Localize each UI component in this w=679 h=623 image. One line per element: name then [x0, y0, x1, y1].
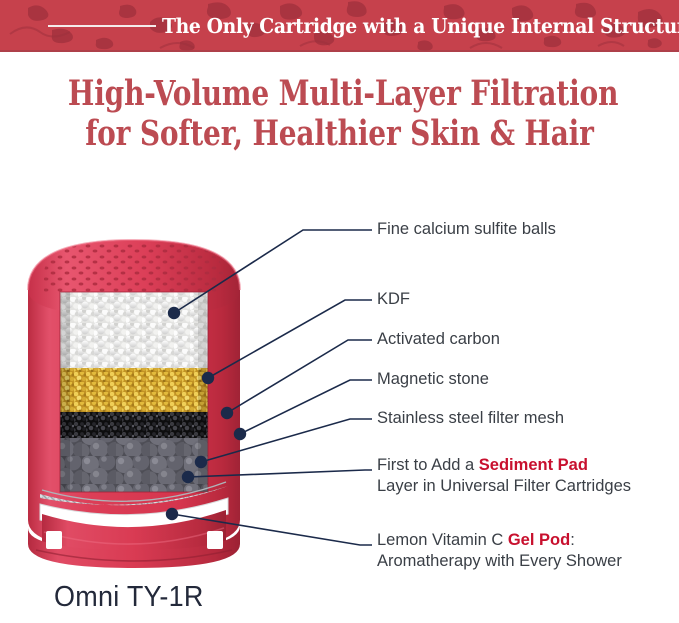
callout-activated-carbon: Activated carbon: [377, 329, 500, 350]
kdf-layer: [60, 368, 208, 412]
magnetic-stone-layer: [60, 438, 208, 492]
callout-kdf: KDF: [377, 289, 410, 310]
page-title-line-2: for Softer, Healthier Skin & Hair: [68, 114, 611, 154]
callout-calcium-sulfite-text: Fine calcium sulfite balls: [377, 220, 556, 238]
cap-perforations: [44, 244, 224, 296]
callout-gel-pod-line-2: Aromatherapy with Every Shower: [377, 551, 622, 572]
callout-activated-carbon-text: Activated carbon: [377, 330, 500, 348]
media-window: [60, 290, 208, 492]
callout-sediment-pad-line-2: Layer in Universal Filter Cartridges: [377, 476, 631, 497]
callout-gel-pod-prefix: Lemon Vitamin C: [377, 531, 508, 549]
callout-sediment-pad-prefix: First to Add a: [377, 456, 479, 474]
flange-notch-right: [207, 531, 223, 549]
flange-notch-left: [46, 531, 62, 549]
callout-gel-pod-tail: :: [570, 531, 575, 549]
callout-magnetic-stone: Magnetic stone: [377, 369, 489, 390]
banner-text: The Only Cartridge with a Unique Interna…: [162, 9, 633, 43]
callout-sediment-pad-highlight: Sediment Pad: [479, 456, 588, 474]
page-title-line-1: High-Volume Multi-Layer Filtration: [68, 74, 611, 114]
callout-magnetic-stone-text: Magnetic stone: [377, 370, 489, 388]
banner-bottom-edge: [0, 50, 679, 52]
activated-carbon-layer: [60, 412, 208, 438]
banner-rule: [48, 25, 156, 27]
product-name: Omni TY-1R: [54, 580, 204, 614]
callout-gel-pod-highlight: Gel Pod: [508, 531, 570, 549]
calcium-sulfite-layer: [60, 290, 208, 368]
callout-calcium-sulfite: Fine calcium sulfite balls: [377, 219, 556, 240]
callout-stainless-mesh: Stainless steel filter mesh: [377, 408, 564, 429]
callout-stainless-mesh-text: Stainless steel filter mesh: [377, 409, 564, 427]
page-title: High-Volume Multi-Layer Filtration for S…: [0, 74, 679, 154]
callout-sediment-pad: First to Add a Sediment Pad Layer in Uni…: [377, 455, 631, 497]
top-banner: The Only Cartridge with a Unique Interna…: [0, 0, 679, 52]
callout-kdf-text: KDF: [377, 290, 410, 308]
cartridge-illustration: [14, 232, 314, 572]
callout-gel-pod: Lemon Vitamin C Gel Pod: Aromatherapy wi…: [377, 530, 622, 572]
